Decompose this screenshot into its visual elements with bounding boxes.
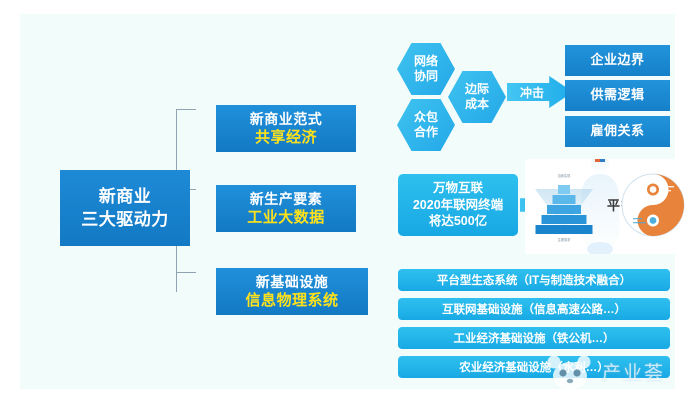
pillar-box-3: 新基础设施 信息物理系统 bbox=[216, 268, 368, 315]
hexagon-marginal-cost: 边际 成本 bbox=[448, 71, 506, 123]
result-box-enterprise-boundary: 企业边界 bbox=[565, 45, 670, 76]
infrastructure-bar-1: 平台型生态系统（IT与制造技术融合） bbox=[398, 269, 670, 291]
infrastructure-bar-3: 工业经济基础设施（铁公机…） bbox=[398, 327, 670, 349]
pillar-2-subtitle: 工业大数据 bbox=[247, 209, 325, 226]
infrastructure-bar-2: 互联网基础设施（信息高速公路…） bbox=[398, 298, 670, 320]
infrastructure-3-label: 工业经济基础设施（铁公机…） bbox=[454, 330, 615, 346]
yin-yang-icon bbox=[620, 172, 686, 238]
hexagon-2-line-1: 众包 bbox=[414, 110, 438, 125]
iot-line-2: 2020年联网终端 bbox=[413, 197, 503, 214]
pyramid-chart-icon: 自我实现 生理需求 bbox=[529, 173, 599, 245]
pillar-3-title: 新基础设施 bbox=[256, 274, 329, 290]
result-box-supply-demand-logic: 供需逻辑 bbox=[565, 80, 670, 111]
pillar-1-title: 新商业范式 bbox=[250, 111, 323, 127]
iot-line-3: 将达500亿 bbox=[429, 213, 487, 230]
hexagon-3-line-1: 边际 bbox=[465, 82, 489, 97]
connector-to-pillar-3 bbox=[176, 272, 196, 273]
pyramid-bottom-caption: 生理需求 bbox=[529, 237, 599, 242]
hexagon-1-line-2: 协同 bbox=[414, 69, 438, 84]
result-2-label: 供需逻辑 bbox=[590, 88, 644, 103]
result-1-label: 企业边界 bbox=[590, 53, 644, 68]
pillar-1-subtitle: 共享经济 bbox=[255, 129, 317, 146]
balance-illustration: 自我实现 生理需求 平衡 bbox=[525, 159, 690, 254]
diagram-plate: 新商业 三大驱动力 新商业范式 共享经济 新生产要素 工业大数据 新基础设施 信… bbox=[20, 14, 675, 389]
result-box-employment-relationship: 雇佣关系 bbox=[565, 116, 670, 147]
pillar-box-1: 新商业范式 共享经济 bbox=[216, 105, 356, 152]
infrastructure-2-label: 互联网基础设施（信息高速公路…） bbox=[442, 301, 626, 317]
infrastructure-1-label: 平台型生态系统（IT与制造技术融合） bbox=[437, 272, 631, 288]
pillar-2-title: 新生产要素 bbox=[250, 191, 323, 207]
hexagon-crowdsourcing-cooperation: 众包 合作 bbox=[397, 99, 455, 151]
hexagon-3-line-2: 成本 bbox=[465, 97, 489, 112]
hexagon-1-line-1: 网络 bbox=[414, 54, 438, 69]
driver-line-1: 新商业 bbox=[99, 187, 152, 207]
iot-callout-box: 万物互联 2020年联网终端 将达500亿 bbox=[398, 174, 518, 236]
hexagon-2-line-2: 合作 bbox=[414, 125, 438, 140]
impact-arrow: 冲击 bbox=[507, 76, 573, 108]
driver-line-2: 三大驱动力 bbox=[81, 210, 169, 230]
pyramid-top-caption: 自我实现 bbox=[529, 173, 599, 178]
result-3-label: 雇佣关系 bbox=[590, 124, 644, 139]
hexagon-network-collaboration: 网络 协同 bbox=[397, 43, 455, 95]
infrastructure-4-label: 农业经济基础设施（水利…） bbox=[459, 359, 609, 375]
infrastructure-bar-4: 农业经济基础设施（水利…） bbox=[398, 356, 670, 378]
pillar-3-subtitle: 信息物理系统 bbox=[245, 292, 338, 309]
screenshot-canvas: 新商业 三大驱动力 新商业范式 共享经济 新生产要素 工业大数据 新基础设施 信… bbox=[0, 0, 695, 403]
iot-line-1: 万物互联 bbox=[433, 180, 483, 197]
connector-to-pillar-1 bbox=[176, 109, 196, 110]
driver-box: 新商业 三大驱动力 bbox=[60, 170, 190, 246]
pillar-box-2: 新生产要素 工业大数据 bbox=[216, 185, 356, 232]
impact-arrow-label: 冲击 bbox=[511, 84, 553, 101]
